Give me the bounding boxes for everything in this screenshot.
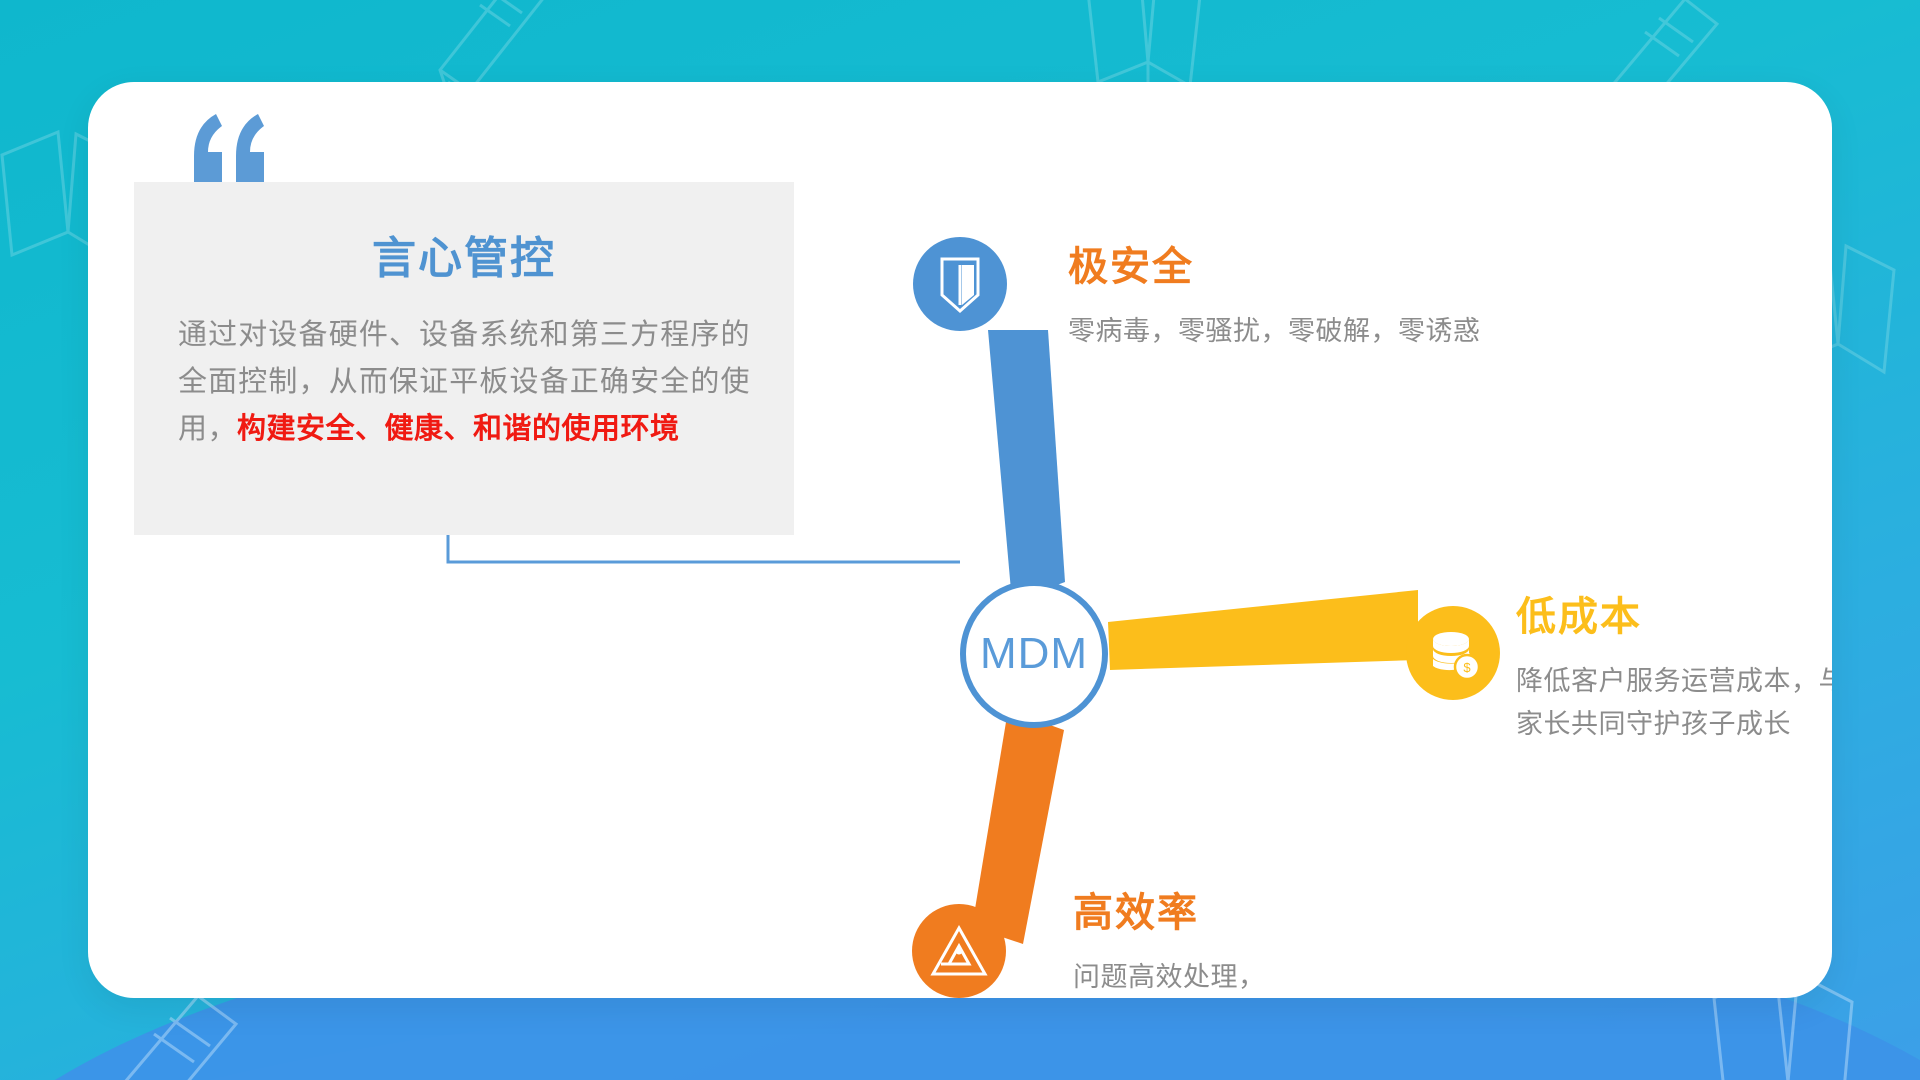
shield-icon (936, 255, 984, 313)
info-panel: 言心管控 通过对设备硬件、设备系统和第三方程序的全面控制，从而保证平板设备正确安… (134, 182, 794, 535)
triangle-alert-icon (930, 924, 988, 978)
feature-security-desc: 零病毒，零骚扰，零破解，零诱惑 (1068, 310, 1588, 353)
feature-efficiency-title: 高效率 (1073, 880, 1493, 938)
feature-cost: 低成本 降低客户服务运营成本，与学校家长共同守护孩子成长 (1516, 584, 1832, 746)
info-panel-title: 言心管控 (178, 222, 750, 286)
svg-text:$: $ (1463, 660, 1471, 675)
cost-icon-bubble[interactable]: $ (1406, 606, 1500, 700)
feature-security: 极安全 零病毒，零骚扰，零破解，零诱惑 (1068, 234, 1588, 353)
efficiency-icon-bubble[interactable] (912, 904, 1006, 998)
feature-cost-title: 低成本 (1516, 584, 1832, 642)
info-panel-body: 通过对设备硬件、设备系统和第三方程序的全面控制，从而保证平板设备正确安全的使用，… (178, 312, 750, 453)
content-card: 言心管控 通过对设备硬件、设备系统和第三方程序的全面控制，从而保证平板设备正确安… (88, 82, 1832, 998)
mdm-hub[interactable]: MDM (960, 580, 1108, 728)
mdm-hub-label: MDM (980, 629, 1088, 679)
feature-efficiency: 高效率 问题高效处理， 风险高效预警 (1073, 880, 1493, 998)
security-icon-bubble[interactable] (913, 237, 1007, 331)
pencil-decoration-bottom-left (90, 990, 270, 1080)
info-body-highlight: 构建安全、健康、和谐的使用环境 (237, 413, 680, 445)
coin-stack-icon: $ (1425, 625, 1481, 681)
feature-cost-desc: 降低客户服务运营成本，与学校家长共同守护孩子成长 (1516, 660, 1832, 746)
feature-efficiency-desc-line1: 问题高效处理， (1073, 956, 1493, 998)
feature-security-title: 极安全 (1068, 234, 1588, 292)
